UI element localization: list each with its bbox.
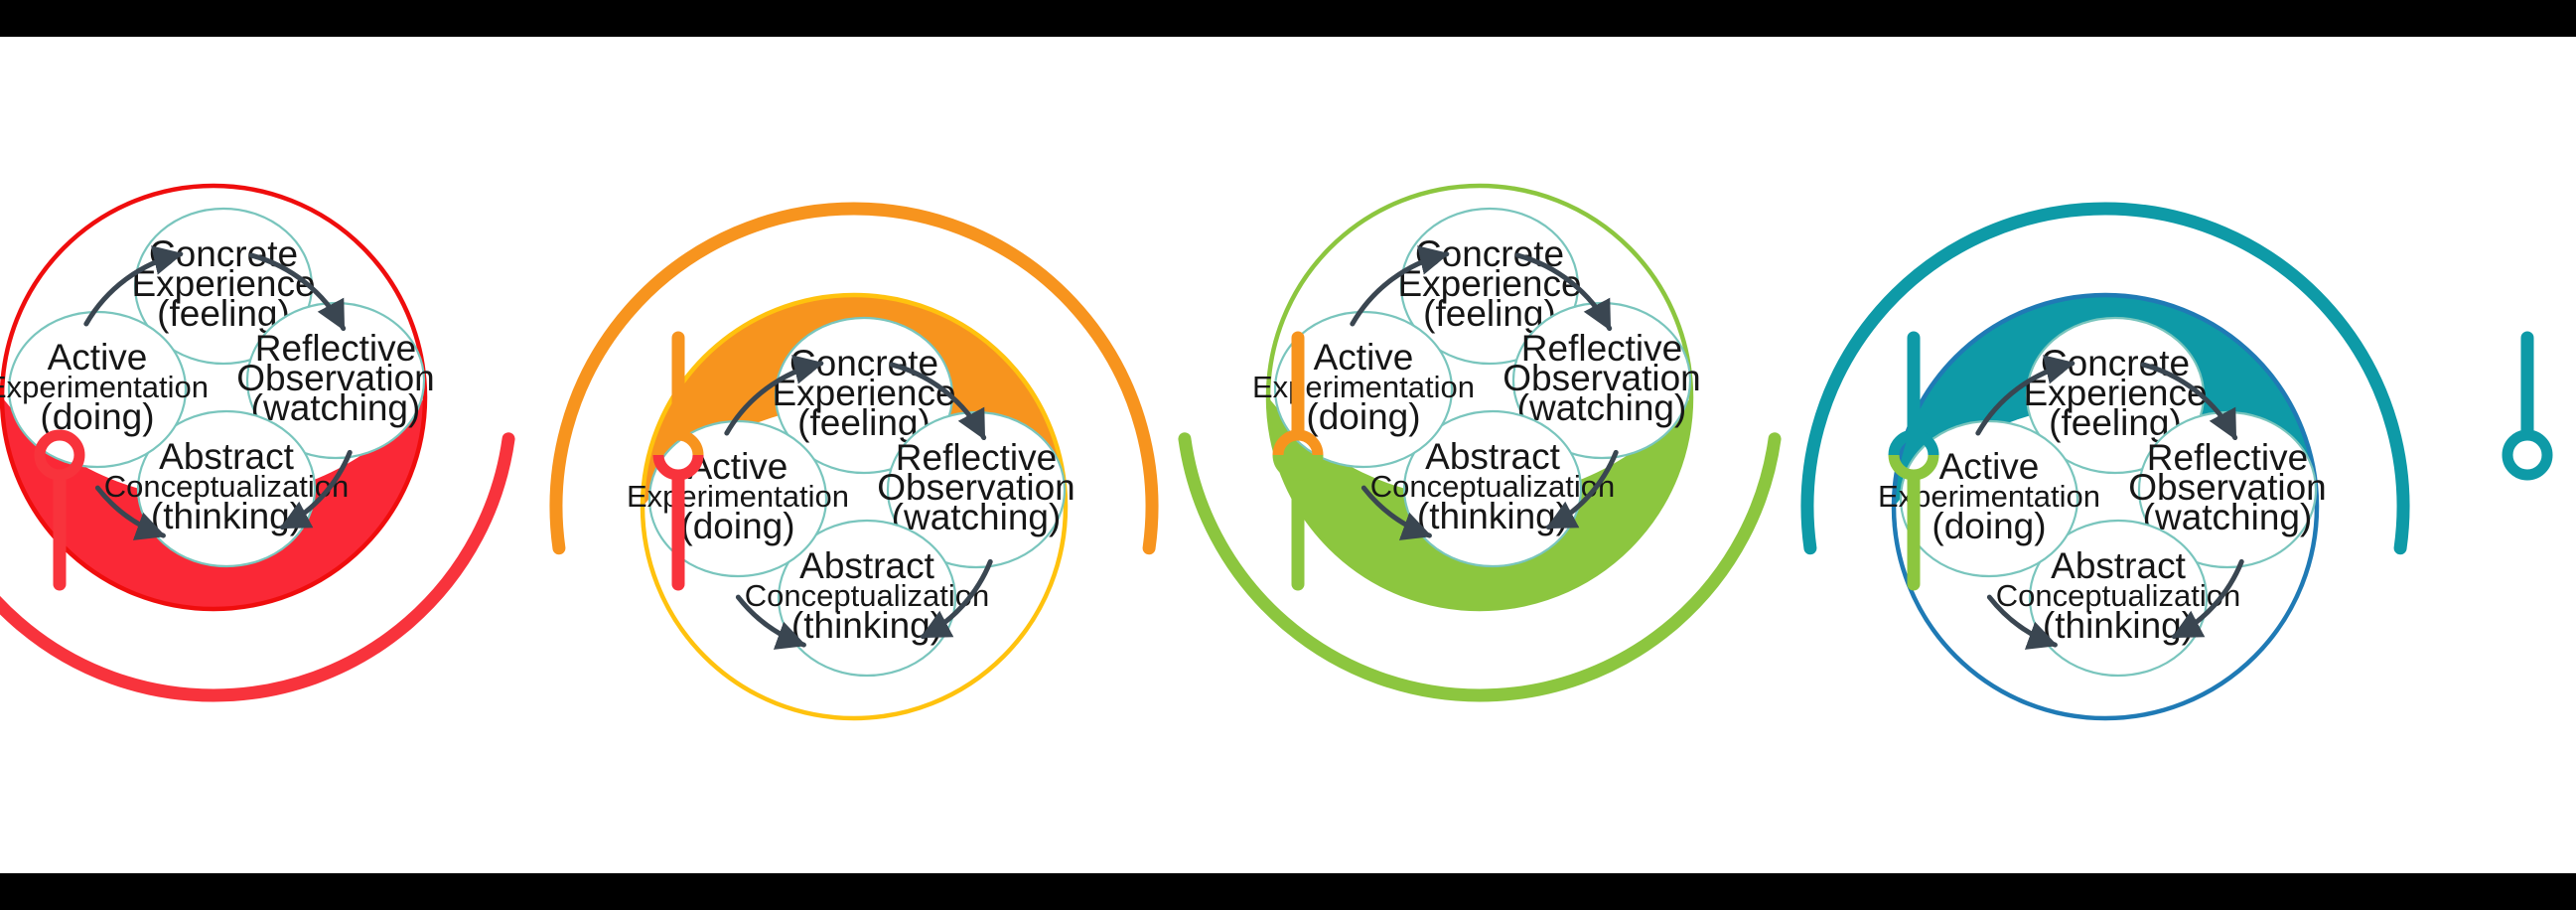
connector-end-ring-bottom[interactable]: [2507, 455, 2547, 475]
stage-label-line3: (thinking): [1417, 496, 1568, 536]
cycle-orange[interactable]: ConcreteExperience(feeling)ReflectiveObs…: [556, 209, 1152, 718]
stage-label-line3: (thinking): [791, 605, 942, 646]
connector-end[interactable]: [2507, 338, 2547, 475]
learning-cycle-svg: ConcreteExperience(feeling)ReflectiveObs…: [0, 0, 2576, 910]
stage-label-line3: (watching): [892, 497, 1062, 537]
diagram-canvas: ConcreteExperience(feeling)ReflectiveObs…: [0, 0, 2576, 910]
stage-label-line3: (watching): [1517, 387, 1687, 428]
stage-label-line3: (thinking): [151, 496, 302, 536]
connector-end-ring-top[interactable]: [2507, 435, 2547, 455]
cycles-layer: ConcreteExperience(feeling)ReflectiveObs…: [0, 186, 2403, 718]
stage-label-line3: (watching): [251, 387, 421, 428]
stage-label-line3: (watching): [2143, 497, 2313, 537]
cycle-green[interactable]: ConcreteExperience(feeling)ReflectiveObs…: [1185, 186, 1775, 695]
stage-label-line3: (doing): [1306, 396, 1420, 437]
stage-label-line3: (doing): [1932, 506, 2046, 546]
letterbox-bottom: [0, 873, 2576, 910]
letterbox-top: [0, 0, 2576, 37]
stage-label-line3: (thinking): [2043, 605, 2194, 646]
stage-label-line3: (doing): [680, 506, 794, 546]
